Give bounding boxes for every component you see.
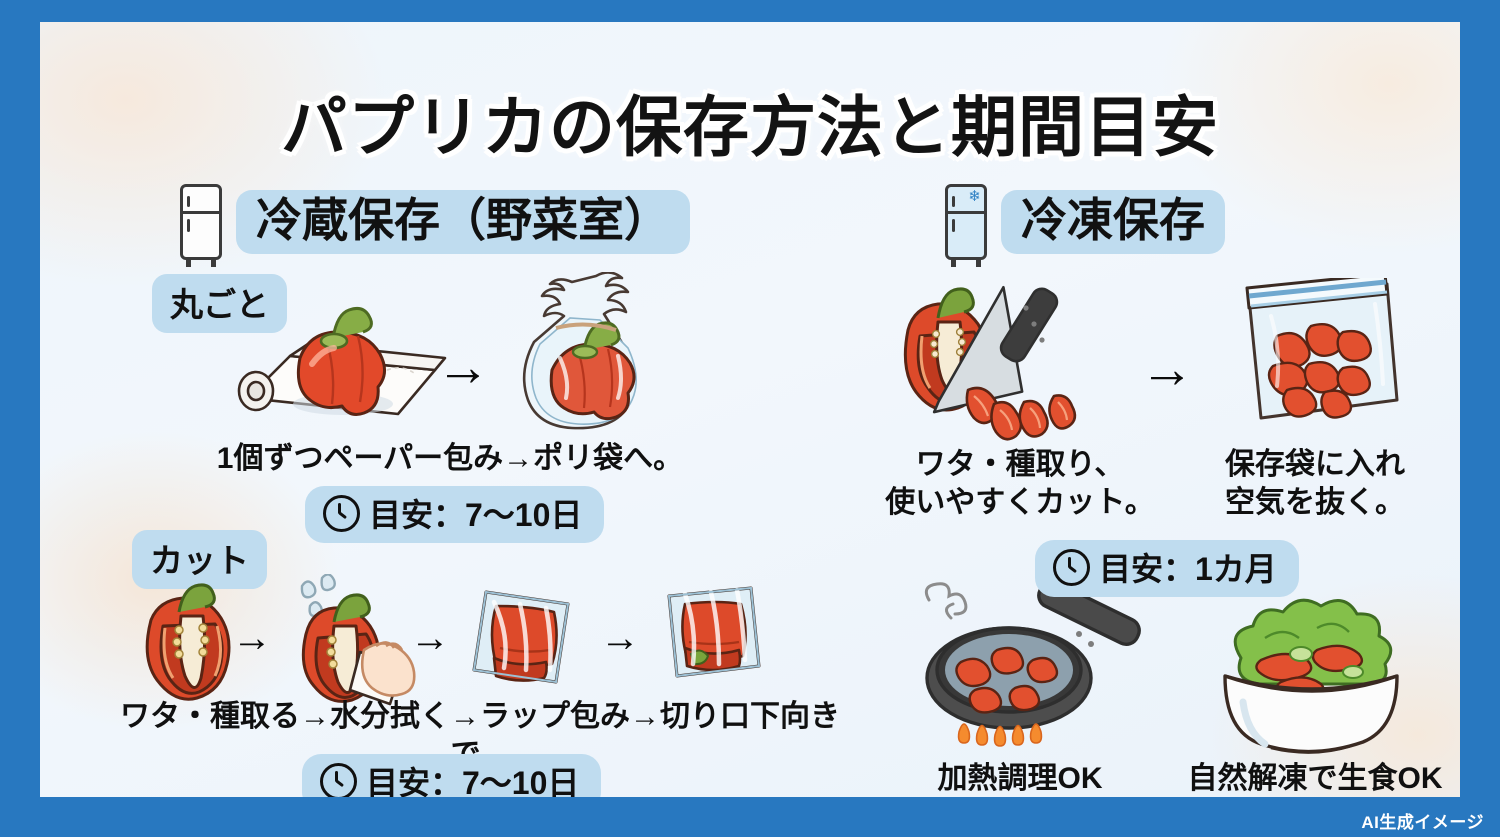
refrigerator-icon (180, 184, 222, 260)
caption-freezer-step1: ワタ・種取り、 使いやすくカット。 (870, 446, 1170, 523)
section-label-freezer: 冷凍保存 (1001, 190, 1225, 254)
illustration-frying-pan (915, 582, 1165, 767)
illustration-zip-bag-with-strips (1225, 278, 1405, 443)
illustration-halved-pepper-with-seeds (135, 578, 245, 708)
infographic-frame: パプリカの保存方法と期間目安 冷蔵保存（野菜室） ❄ 冷凍保存 丸ごと カット (0, 0, 1500, 837)
illustration-pepper-on-paper-towel (230, 278, 460, 438)
section-label-fridge: 冷蔵保存（野菜室） (236, 190, 690, 254)
duration-whole: 目安：7〜10日 (305, 486, 604, 543)
arrow-icon: → (232, 618, 272, 658)
clock-icon (1053, 549, 1090, 586)
clock-icon (320, 763, 357, 798)
caption-whole-storage: 1個ずつペーパー包み→ポリ袋へ。 (160, 440, 740, 478)
illustration-wipe-moisture-with-paper (290, 574, 430, 714)
caption-heat-cooking: 加熱調理OK (900, 760, 1140, 797)
illustration-pepper-knife-strips (898, 278, 1138, 448)
arrow-icon: → (1140, 342, 1194, 396)
arrow-icon: → (436, 340, 490, 394)
infographic-card: パプリカの保存方法と期間目安 冷蔵保存（野菜室） ❄ 冷凍保存 丸ごと カット (40, 22, 1460, 797)
illustration-wrapped-pepper-cut-side-down (645, 582, 770, 702)
arrow-icon: → (410, 618, 450, 658)
ai-watermark: AI生成イメージ (1361, 808, 1484, 833)
clock-icon (323, 495, 360, 532)
section-header-fridge: 冷蔵保存（野菜室） (180, 184, 690, 260)
caption-thaw-raw: 自然解凍で生食OK (1150, 760, 1460, 797)
illustration-wrapped-pepper (460, 582, 585, 702)
duration-freezer: 目安：1カ月 (1035, 540, 1299, 597)
illustration-pepper-in-poly-bag (500, 272, 675, 442)
illustration-salad-bowl (1205, 584, 1420, 764)
section-header-freezer: ❄ 冷凍保存 (945, 184, 1225, 260)
duration-label: 目安：1カ月 (1099, 544, 1277, 590)
arrow-icon: → (600, 618, 640, 658)
duration-cut: 目安：7〜10日 (302, 754, 601, 797)
duration-label: 目安：7〜10日 (366, 758, 579, 797)
caption-freezer-step2: 保存袋に入れ 空気を抜く。 (1180, 446, 1450, 523)
snowflake-icon: ❄ (968, 189, 981, 204)
duration-label: 目安：7〜10日 (369, 490, 582, 536)
freezer-icon: ❄ (945, 184, 987, 260)
page-title: パプリカの保存方法と期間目安 (40, 74, 1460, 170)
